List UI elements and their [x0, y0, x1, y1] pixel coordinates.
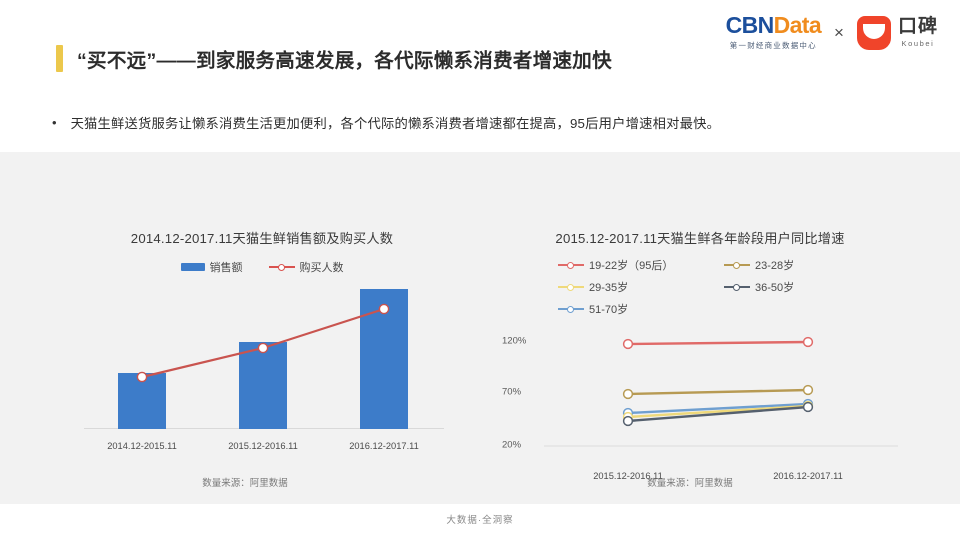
buyer-count-line	[84, 291, 444, 451]
legend-item-sales-amount[interactable]: 销售额	[181, 259, 243, 275]
legend-swatch-line-icon	[724, 283, 750, 292]
legend-row-3: 51-70岁	[558, 301, 628, 317]
koubei-name-cn: 口碑	[898, 17, 938, 36]
chart-sales: 2014.12-2017.11天猫生鲜销售额及购买人数 销售额 购买人数	[62, 228, 462, 451]
slide-root: CBNData 第一财经商业数据中心 × 口碑 Koubei “买不远”——到家…	[0, 0, 960, 534]
legend-item-age-19-22[interactable]: 19-22岁（95后）	[558, 257, 680, 273]
legend-swatch-bar-icon	[181, 263, 205, 271]
legend-swatch-line-icon	[269, 263, 295, 272]
legend-swatch-line-icon	[558, 305, 584, 314]
legend-row-2: 29-35岁 36-50岁	[558, 279, 794, 295]
legend-row-1: 19-22岁（95后） 23-28岁	[558, 257, 794, 273]
bullet-text: 天猫生鲜送货服务让懒系消费生活更加便利，各个代际的懒系消费者增速都在提高，95后…	[71, 113, 721, 132]
legend-item-age-23-28[interactable]: 23-28岁	[724, 257, 794, 273]
chart-growth-source: 数量来源：阿里数据	[647, 475, 733, 489]
legend-label: 购买人数	[300, 259, 344, 275]
koubei-logo: 口碑 Koubei	[857, 16, 938, 50]
legend-swatch-line-icon	[724, 261, 750, 270]
footer-note: 大数据·全洞察	[446, 512, 513, 526]
koubei-name-en: Koubei	[902, 39, 935, 48]
chart-growth-legend: 19-22岁（95后） 23-28岁 29-35岁 36-50岁	[558, 257, 900, 317]
cbndata-word-cbn: CBN	[726, 12, 774, 38]
x-label-0: 2014.12-2015.11	[107, 441, 177, 451]
chart-sales-title: 2014.12-2017.11天猫生鲜销售额及购买人数	[62, 228, 462, 247]
chart-growth-title: 2015.12-2017.11天猫生鲜各年龄段用户同比增速	[500, 228, 900, 247]
title-accent-bar	[56, 45, 63, 72]
chart-sales-source: 数量来源：阿里数据	[202, 475, 288, 489]
koubei-smile-icon	[857, 16, 891, 50]
bullet-item: • 天猫生鲜送货服务让懒系消费生活更加便利，各个代际的懒系消费者增速都在提高，9…	[52, 113, 720, 133]
legend-label: 51-70岁	[589, 301, 628, 317]
chart-sales-legend: 销售额 购买人数	[62, 259, 462, 275]
chart-sales-plot: 2014.12-2015.11 2015.12-2016.11 2016.12-…	[84, 291, 444, 451]
legend-label: 29-35岁	[589, 279, 628, 295]
legend-label: 23-28岁	[755, 257, 794, 273]
cbndata-logo: CBNData 第一财经商业数据中心	[726, 14, 821, 51]
legend-swatch-line-icon	[558, 283, 584, 292]
line-age-23-28	[624, 386, 813, 399]
title-text: “买不远”——到家服务高速发展，各代际懒系消费者增速加快	[77, 44, 612, 73]
legend-item-age-36-50[interactable]: 36-50岁	[724, 279, 794, 295]
legend-label: 19-22岁（95后）	[589, 257, 673, 273]
legend-item-buyer-count[interactable]: 购买人数	[269, 259, 344, 275]
brand-separator-x: ×	[834, 23, 844, 43]
brand-lockup: CBNData 第一财经商业数据中心 × 口碑 Koubei	[726, 14, 938, 51]
legend-label: 销售额	[210, 259, 243, 275]
chart-growth-plot: 120% 70% 20%	[500, 329, 900, 479]
bullet-marker-icon: •	[52, 113, 57, 133]
koubei-wordmark: 口碑 Koubei	[898, 17, 938, 48]
legend-label: 36-50岁	[755, 279, 794, 295]
page-title: “买不远”——到家服务高速发展，各代际懒系消费者增速加快	[56, 44, 612, 73]
cbndata-subtitle: 第一财经商业数据中心	[730, 40, 817, 50]
growth-x-label-1: 2016.12-2017.11	[773, 471, 843, 481]
x-label-1: 2015.12-2016.11	[228, 441, 298, 451]
legend-swatch-line-icon	[558, 261, 584, 270]
cbndata-wordmark: CBNData	[726, 14, 821, 37]
line-age-19-22	[624, 338, 813, 349]
chart-growth: 2015.12-2017.11天猫生鲜各年龄段用户同比增速 19-22岁（95后…	[500, 228, 900, 479]
legend-item-age-51-70[interactable]: 51-70岁	[558, 301, 628, 317]
growth-lines	[500, 329, 900, 479]
x-label-2: 2016.12-2017.11	[349, 441, 419, 451]
legend-item-age-29-35[interactable]: 29-35岁	[558, 279, 680, 295]
cbndata-word-data: Data	[774, 12, 821, 38]
